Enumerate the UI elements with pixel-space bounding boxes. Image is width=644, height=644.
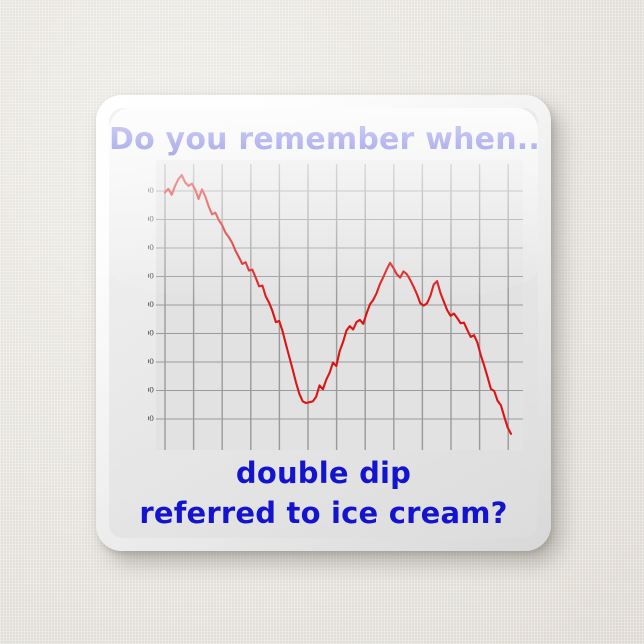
y-axis-tick-label: 8,000	[148, 357, 154, 366]
y-axis-tick-label: 10,000	[148, 300, 154, 309]
chart-svg: 14,00013,00012,00011,00010,0009,0008,000…	[148, 160, 523, 450]
caption-bottom-line-1: double dip	[109, 456, 538, 490]
y-axis-tick-label: 6,000	[148, 414, 154, 423]
caption-top-text: Do you remember when...	[109, 122, 538, 157]
y-axis-tick-label: 9,000	[148, 329, 154, 338]
y-axis-tick-label: 11,000	[148, 272, 154, 281]
pinback-button-badge: Do you remember when... 14,00013,00012,0…	[96, 95, 551, 551]
y-axis-tick-label: 14,000	[148, 186, 154, 195]
y-axis-tick-labels: 14,00013,00012,00011,00010,0009,0008,000…	[148, 186, 154, 423]
stock-market-chart: 14,00013,00012,00011,00010,0009,0008,000…	[148, 160, 523, 450]
badge-printed-face: Do you remember when... 14,00013,00012,0…	[109, 108, 538, 538]
caption-bottom-line-2: referred to ice cream?	[109, 496, 538, 530]
y-axis-tick-label: 12,000	[148, 243, 154, 252]
y-axis-tick-label: 7,000	[148, 386, 154, 395]
y-axis-tick-label: 13,000	[148, 215, 154, 224]
